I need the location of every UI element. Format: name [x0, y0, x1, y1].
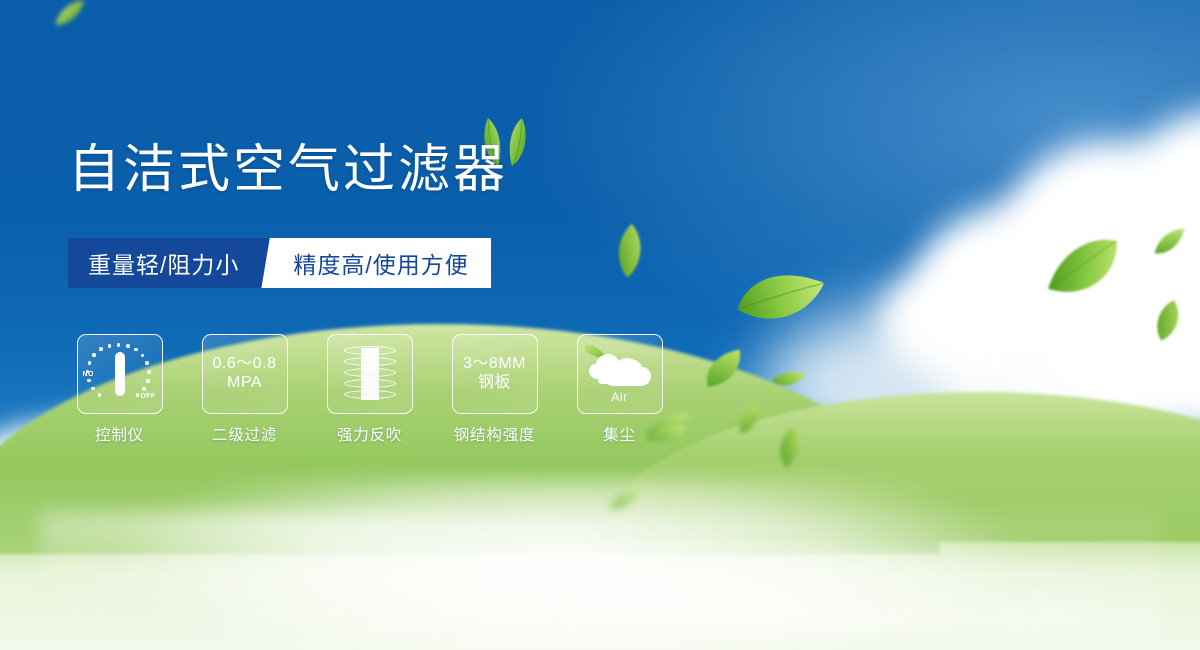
feature-icon-box: 3～8MM 钢板 [452, 334, 538, 414]
subtitle-left-segment: 重量轻/阻力小 [68, 238, 261, 288]
feature-icon-box: 0.6～0.8 MPA [202, 334, 288, 414]
steel-plate-text-icon: 3～8MM 钢板 [463, 355, 526, 392]
feature-label: 控制仪 [95, 423, 144, 445]
meadow-ground [0, 450, 1200, 650]
feature-label: 强力反吹 [337, 423, 402, 445]
feature-icon-box [327, 334, 413, 414]
page-title: 自洁式空气过滤器 [68, 143, 508, 198]
dial-off-label: OFF [140, 393, 155, 400]
air-cloud-icon: Air [585, 345, 655, 403]
feature-label: 钢结构强度 [454, 423, 536, 445]
promo-banner: 自洁式空气过滤器 重量轻/阻力小 精度高/使用方便 [0, 0, 1200, 650]
pressure-text-icon: 0.6～0.8 MPA [213, 355, 277, 392]
feature-icon-box: Air [577, 334, 663, 414]
floating-leaf [610, 222, 651, 280]
floating-leaf [49, 0, 91, 32]
air-label: Air [585, 390, 655, 404]
subtitle-slant-divider [261, 238, 283, 288]
subtitle-bar: 重量轻/阻力小 精度高/使用方便 [68, 238, 491, 288]
feature-icon-box: NO OFF [77, 334, 163, 414]
pressure-value: 0.6～0.8 [213, 355, 277, 374]
feature-item-backblow[interactable]: 强力反吹 [318, 334, 421, 445]
dial-on-label: NO [83, 371, 94, 378]
feature-item-controller[interactable]: NO OFF 控制仪 [68, 334, 171, 445]
feature-label: 集尘 [603, 423, 636, 445]
control-dial-icon: NO OFF [84, 341, 156, 407]
floating-leaf [644, 423, 687, 448]
feature-item-secondary-filter[interactable]: 0.6～0.8 MPA 二级过滤 [193, 334, 296, 445]
filter-stack-icon [340, 344, 400, 404]
feature-label: 二级过滤 [212, 423, 277, 445]
subtitle-right-segment: 精度高/使用方便 [283, 238, 490, 288]
grass-sun-glow [120, 480, 1020, 650]
dial-pointer [115, 352, 125, 396]
feature-list: NO OFF 控制仪 0.6～0.8 MPA 二级过滤 [68, 334, 671, 445]
pressure-unit: MPA [213, 374, 277, 393]
feature-item-steel-strength[interactable]: 3～8MM 钢板 钢结构强度 [443, 334, 546, 445]
steel-material: 钢板 [463, 374, 526, 393]
steel-thickness: 3～8MM [463, 355, 526, 374]
